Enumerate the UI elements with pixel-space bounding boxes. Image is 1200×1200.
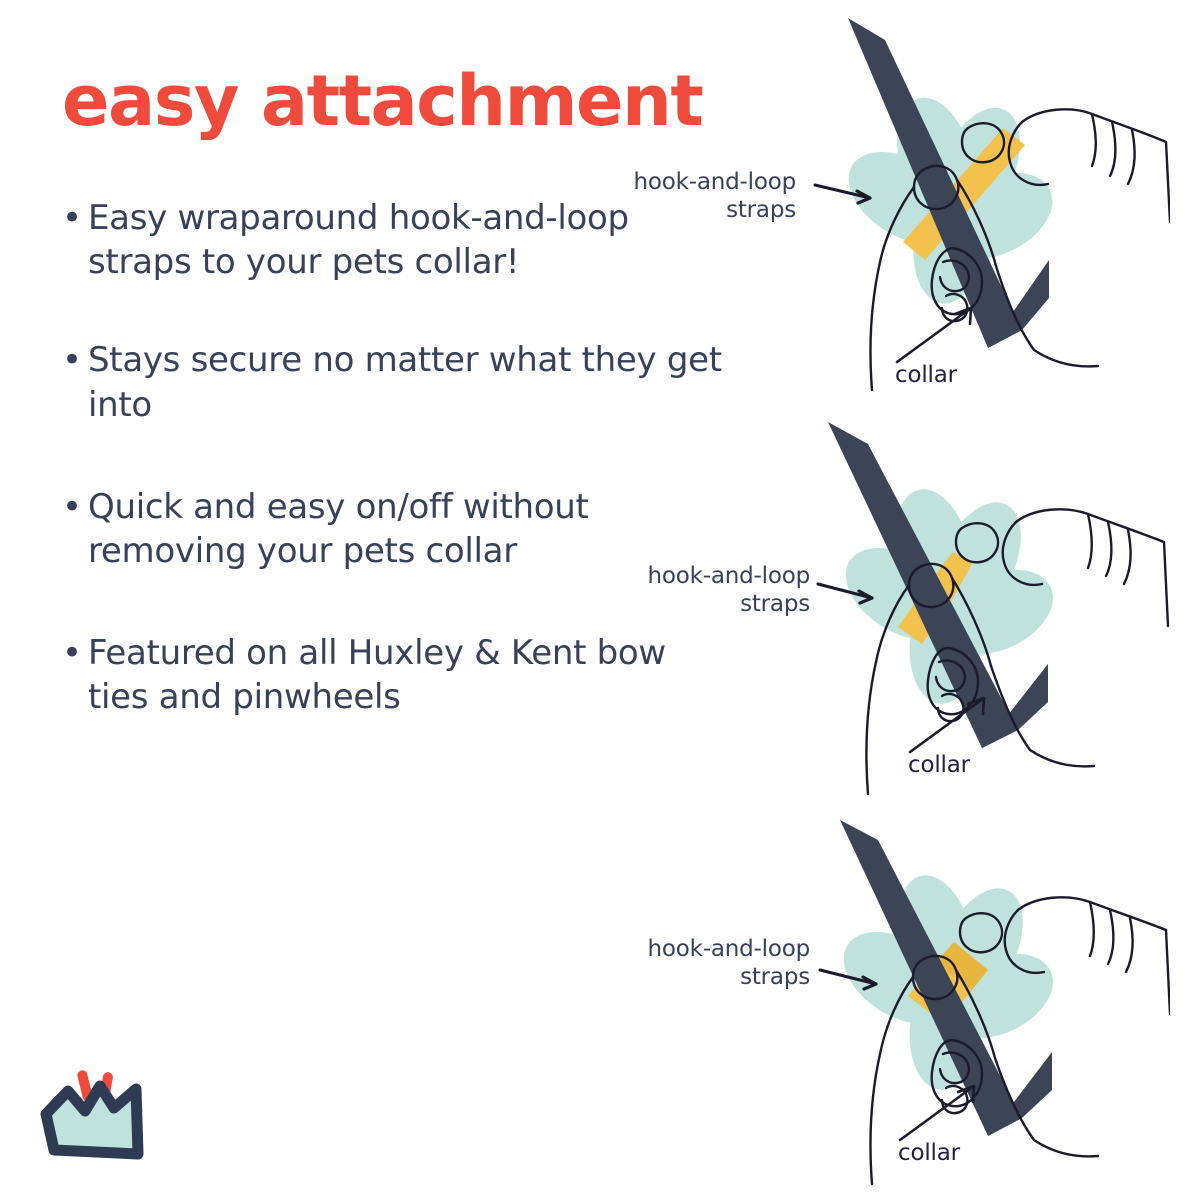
hook-and-loop-label: hook-and-loop straps [610, 562, 810, 618]
list-item: Featured on all Huxley & Kent bow ties a… [62, 631, 722, 719]
collar-arrow-icon-2 [898, 690, 1008, 760]
hook-and-loop-label: hook-and-loop straps [610, 935, 810, 991]
collar-arrow-icon-3 [888, 1078, 998, 1148]
hook-and-loop-label: hook-and-loop straps [596, 168, 796, 224]
collar-arrow-icon-1 [885, 300, 995, 370]
list-item: Stays secure no matter what they get int… [62, 338, 722, 426]
crown-icon [38, 1058, 160, 1174]
brand-logo [38, 1058, 160, 1174]
list-item: Quick and easy on/off without removing y… [62, 485, 722, 573]
infographic-page: easy attachment Easy wraparound hook-and… [0, 0, 1200, 1200]
feature-bullet-list: Easy wraparound hook-and-loop straps to … [62, 196, 722, 720]
crown-shape [46, 1086, 138, 1154]
page-title: easy attachment [62, 66, 702, 136]
